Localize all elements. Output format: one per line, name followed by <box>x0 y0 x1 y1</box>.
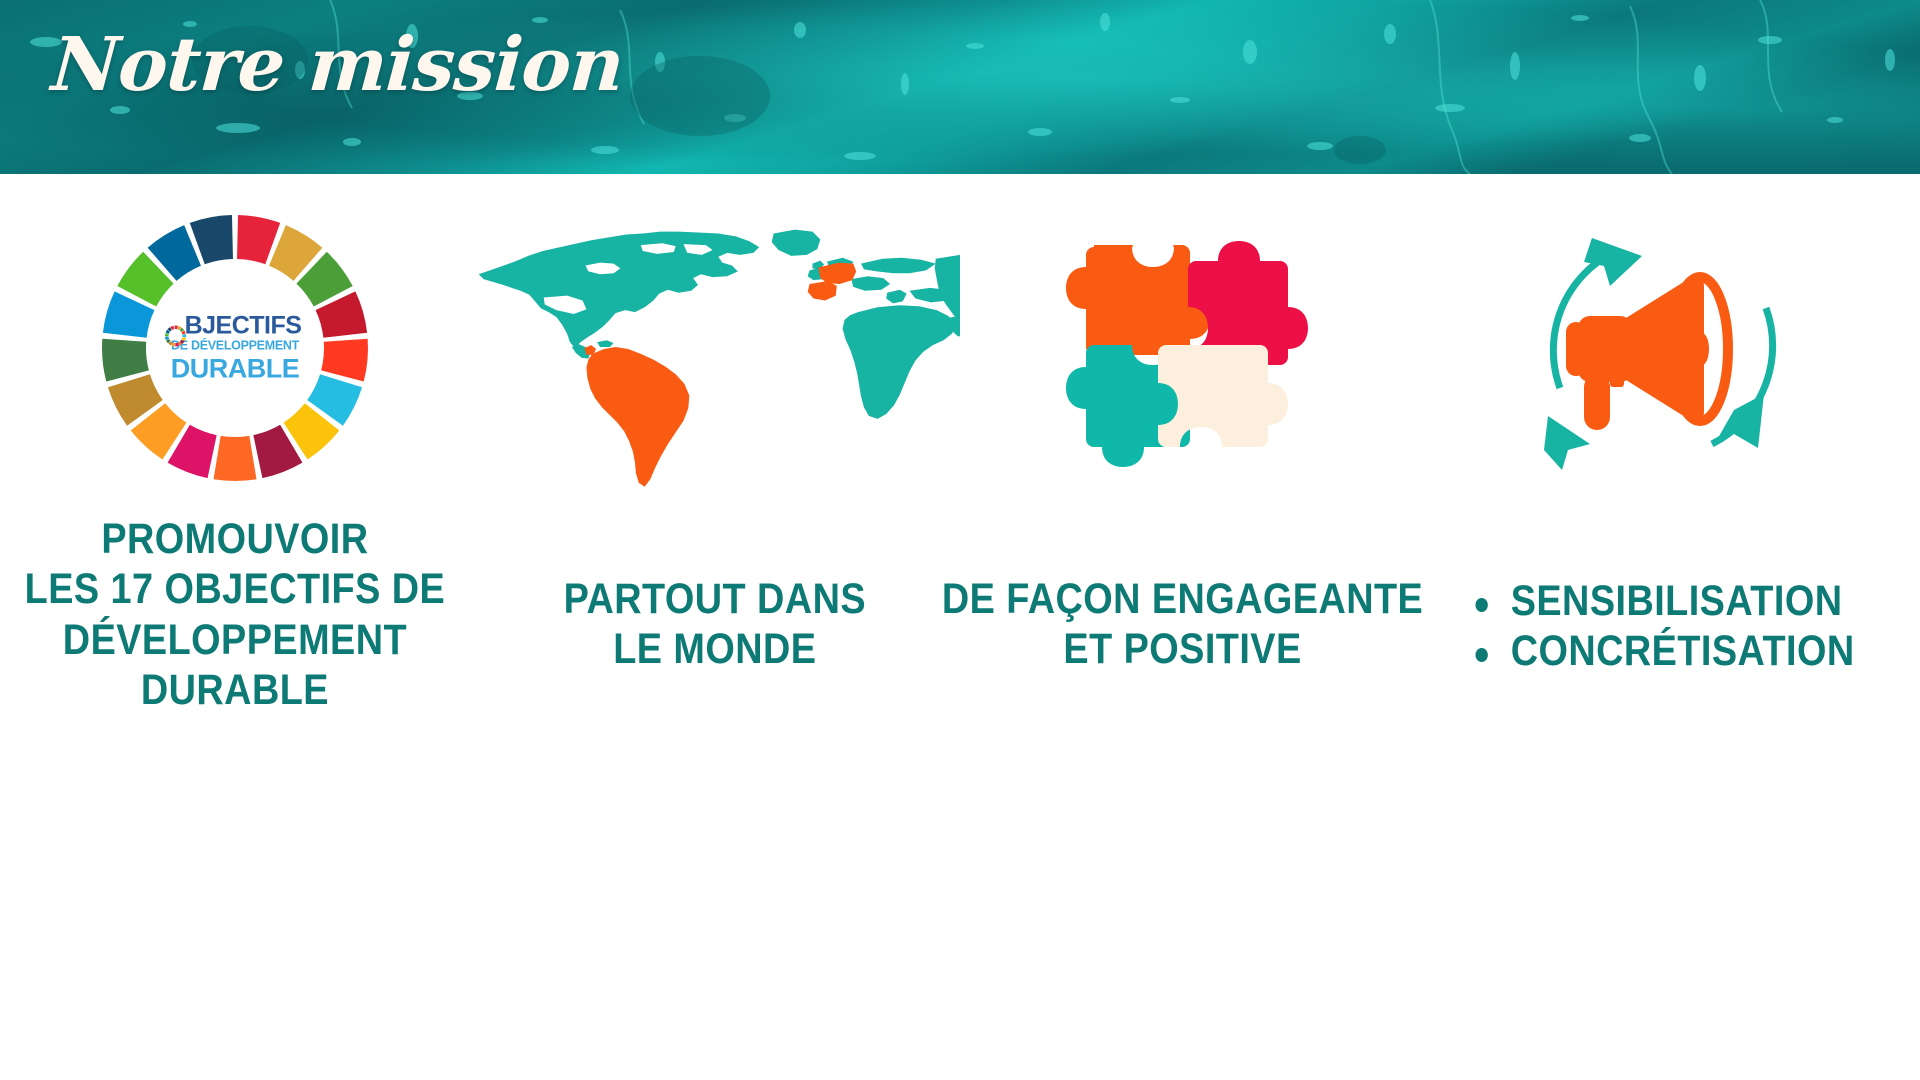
caption-line: ET POSITIVE <box>942 624 1423 674</box>
icon-slot-2 <box>470 174 960 504</box>
sdg-wheel-segment <box>214 436 257 481</box>
icon-slot-4 <box>1405 174 1920 504</box>
megaphone-body <box>1566 276 1728 430</box>
mission-column-sensibilisation: SENSIBILISATION CONCRÉTISATION <box>1405 174 1920 1080</box>
world-map-icon <box>470 203 960 493</box>
caption-line: LES 17 OBJECTIFS DE <box>25 564 446 614</box>
caption-line: DÉVELOPPEMENT <box>25 615 446 665</box>
caption-line: LE MONDE <box>564 624 866 674</box>
slide-root: Notre mission <box>0 0 1920 1080</box>
icon-slot-1: BJECTIFS DE DÉVELOPPEMENT DURABLE <box>0 174 470 504</box>
list-item: SENSIBILISATION <box>1470 576 1854 626</box>
mission-column-partout: PARTOUT DANS LE MONDE <box>470 174 960 1080</box>
mission-columns: BJECTIFS DE DÉVELOPPEMENT DURABLE PROMOU… <box>0 174 1920 1080</box>
caption-line: DE FAÇON ENGAGEANTE <box>942 574 1423 624</box>
caption-line: PROMOUVOIR <box>25 514 446 564</box>
puzzle-pieces-icon <box>1058 217 1308 479</box>
icon-slot-3 <box>960 174 1405 504</box>
caption-line: PARTOUT DANS <box>564 574 866 624</box>
sdg-wheel-segment <box>321 339 368 382</box>
megaphone-cycle-icon <box>1518 212 1808 484</box>
sdg-wheel-svg <box>100 213 370 483</box>
page-title: Notre mission <box>49 28 625 102</box>
header-banner: Notre mission <box>0 0 1920 174</box>
mission-column-promouvoir: BJECTIFS DE DÉVELOPPEMENT DURABLE PROMOU… <box>0 174 470 1080</box>
caption-list-sensibilisation: SENSIBILISATION CONCRÉTISATION <box>1470 576 1854 677</box>
caption-promouvoir: PROMOUVOIR LES 17 OBJECTIFS DE DÉVELOPPE… <box>25 514 446 715</box>
caption-engageante: DE FAÇON ENGAGEANTE ET POSITIVE <box>942 574 1423 675</box>
sdg-wheel-segment <box>102 339 149 382</box>
caption-line: DURABLE <box>25 665 446 715</box>
caption-partout: PARTOUT DANS LE MONDE <box>564 574 866 675</box>
list-item: CONCRÉTISATION <box>1470 626 1854 676</box>
sdg-wheel-icon: BJECTIFS DE DÉVELOPPEMENT DURABLE <box>100 213 370 483</box>
mission-column-engageante: DE FAÇON ENGAGEANTE ET POSITIVE <box>960 174 1405 1080</box>
